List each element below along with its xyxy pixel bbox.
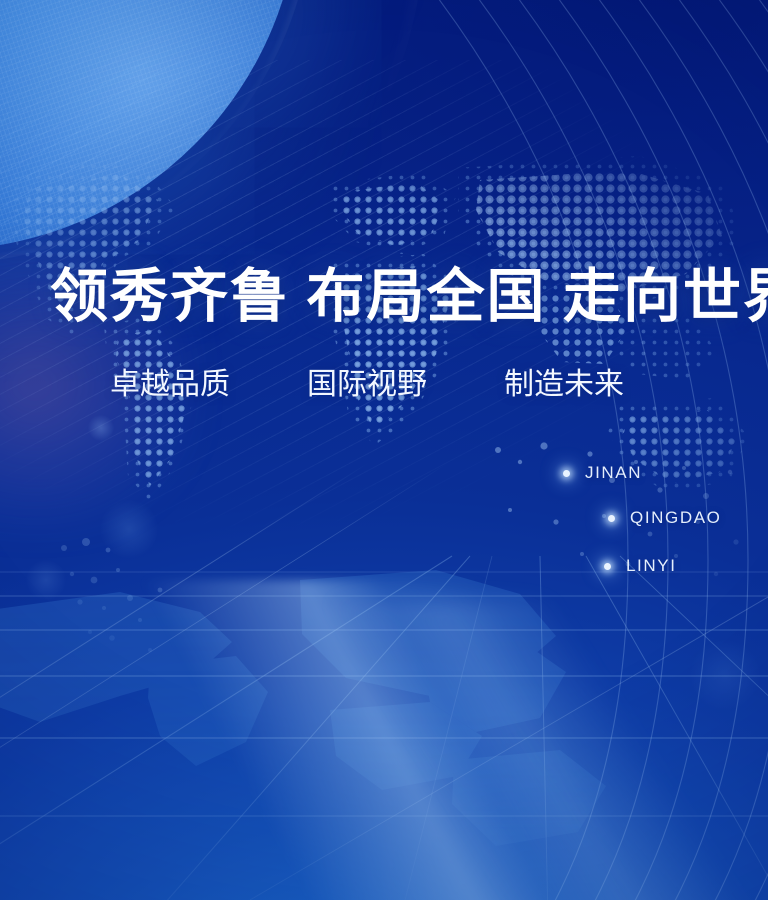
map-pin-dot-icon [604,563,611,570]
city-label: JINAN [585,463,642,483]
map-pin-dot-icon [563,470,570,477]
city-marker-linyi[interactable]: LINYI [604,556,677,576]
city-label: QINGDAO [630,508,722,528]
hero-banner: 领秀齐鲁 布局全国 走向世界 卓越品质 国际视野 制造未来 JINAN QING… [0,0,768,900]
map-pin-dot-icon [608,515,615,522]
city-marker-jinan[interactable]: JINAN [563,463,642,483]
city-marker-list: JINAN QINGDAO LINYI [0,0,768,900]
city-label: LINYI [626,556,677,576]
city-marker-qingdao[interactable]: QINGDAO [608,508,722,528]
banner-content: 领秀齐鲁 布局全国 走向世界 卓越品质 国际视野 制造未来 JINAN QING… [0,0,768,900]
